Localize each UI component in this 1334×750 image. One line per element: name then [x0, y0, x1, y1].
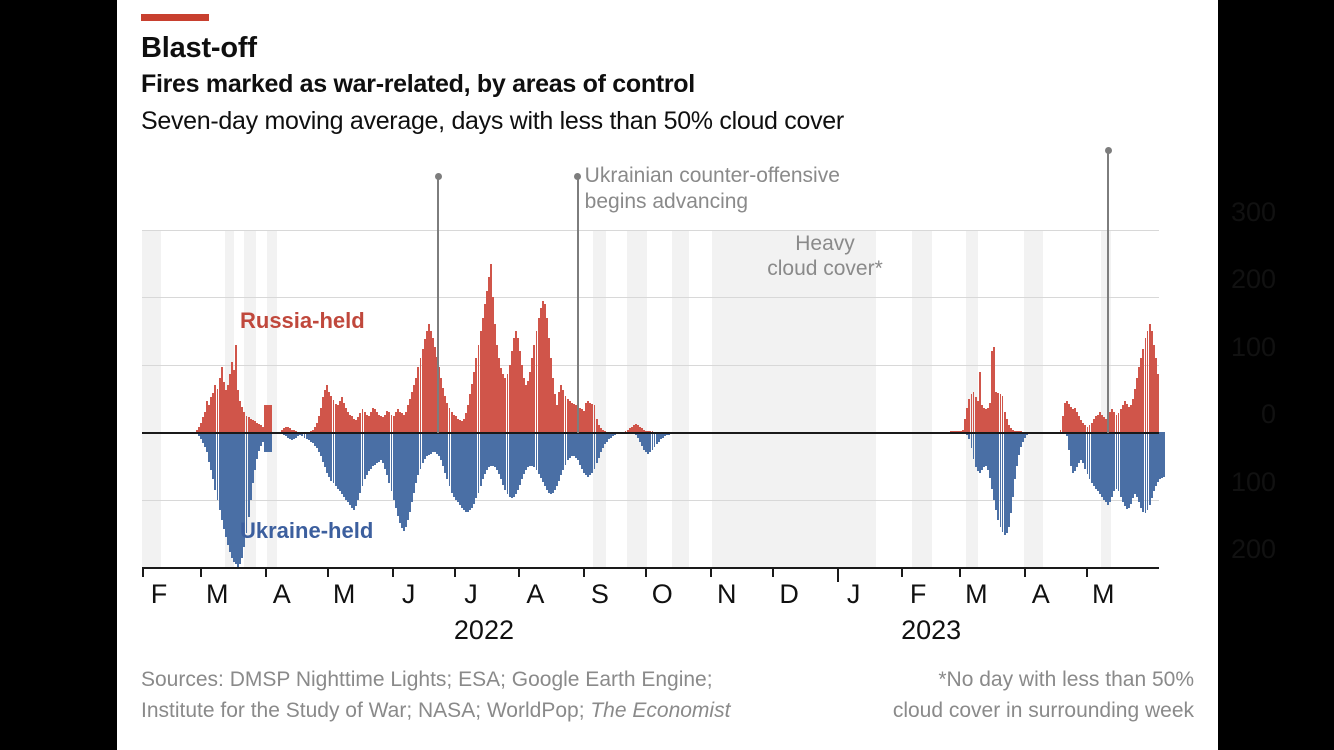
- event-marker-dot: [574, 173, 581, 180]
- x-axis-tick: [583, 567, 585, 577]
- y-axis-tick-label: 300: [1171, 197, 1276, 228]
- y-axis-tick-label: 200: [1171, 264, 1276, 295]
- x-axis-month-label: A: [1032, 579, 1050, 610]
- x-axis-month-label: A: [273, 579, 291, 610]
- x-axis-month-label: N: [717, 579, 737, 610]
- y-axis-tick-label: 0: [1171, 399, 1276, 430]
- event-marker-dot: [1105, 147, 1112, 154]
- x-axis-tick: [645, 567, 647, 577]
- x-axis-tick: [1086, 567, 1088, 577]
- x-axis-tick: [1024, 567, 1026, 577]
- x-axis-year-label: 2022: [454, 615, 514, 646]
- x-axis-tick: [454, 567, 456, 577]
- sources-note: Sources: DMSP Nighttime Lights; ESA; Goo…: [141, 665, 730, 726]
- chart-bar: [1163, 432, 1165, 476]
- x-axis-month-label: M: [206, 579, 229, 610]
- series-label-russia: Russia-held: [240, 308, 365, 334]
- chart-bar: [270, 405, 272, 432]
- cloud-label-line1: Heavy: [750, 232, 900, 257]
- chart-card: Blast-off Fires marked as war-related, b…: [117, 0, 1218, 750]
- footnote: *No day with less than 50% cloud cover i…: [893, 665, 1194, 726]
- x-axis-year-label: 2023: [901, 615, 961, 646]
- x-axis-tick: [518, 567, 520, 577]
- cloud-label-line2: cloud cover*: [750, 257, 900, 282]
- event-annotation-text: Ukrainian counter-offensivebegins advanc…: [585, 163, 840, 215]
- x-axis-tick: [327, 567, 329, 577]
- screenshot-stage: Blast-off Fires marked as war-related, b…: [0, 0, 1334, 750]
- sources-line-2: Institute for the Study of War; NASA; Wo…: [141, 696, 730, 727]
- y-axis-tick-label: 100: [1171, 467, 1276, 498]
- annotation-line-2: begins advancing: [585, 189, 840, 215]
- x-axis-tick: [392, 567, 394, 577]
- sources-line-2-text: Institute for the Study of War; NASA; Wo…: [141, 699, 590, 722]
- x-axis-tick: [959, 567, 961, 577]
- event-marker-line: [1107, 152, 1109, 433]
- y-axis-tick-label: 200: [1171, 534, 1276, 565]
- footnote-line-1: *No day with less than 50%: [893, 665, 1194, 696]
- x-axis-month-label: J: [847, 579, 861, 610]
- y-axis-tick-label: 100: [1171, 332, 1276, 363]
- plot-area: 3002001000100200 Russia-held Ukraine-hel…: [142, 230, 1159, 567]
- x-axis-month-label: F: [910, 579, 927, 610]
- footnote-line-2: cloud cover in surrounding week: [893, 696, 1194, 727]
- sources-line-1: Sources: DMSP Nighttime Lights; ESA; Goo…: [141, 665, 730, 696]
- publisher-name: The Economist: [590, 699, 730, 722]
- x-axis-tick: [200, 567, 202, 577]
- chart-bar: [270, 432, 272, 452]
- x-axis-tick: [710, 567, 712, 577]
- x-axis-line: [142, 567, 1159, 569]
- x-axis-tick: [142, 567, 144, 577]
- event-marker-line: [437, 178, 439, 433]
- x-axis-tick: [265, 567, 267, 577]
- x-axis-month-label: S: [591, 579, 609, 610]
- bar-series-layer: [142, 230, 1159, 567]
- event-marker-line: [577, 178, 579, 433]
- x-axis-month-label: M: [965, 579, 988, 610]
- x-axis-month-label: D: [779, 579, 799, 610]
- x-axis-tick: [901, 567, 903, 577]
- chart-subsubtitle: Seven-day moving average, days with less…: [141, 107, 844, 136]
- heavy-cloud-cover-label: Heavy cloud cover*: [750, 232, 900, 282]
- x-axis-tick: [837, 567, 839, 582]
- x-axis-month-label: J: [464, 579, 478, 610]
- x-axis-month-label: J: [402, 579, 416, 610]
- chart-subtitle: Fires marked as war-related, by areas of…: [141, 70, 695, 99]
- brand-rule: [141, 14, 209, 21]
- event-marker-dot: [435, 173, 442, 180]
- x-axis-month-label: M: [1092, 579, 1115, 610]
- x-axis-month-label: F: [151, 579, 168, 610]
- x-axis-month-label: A: [526, 579, 544, 610]
- zero-line: [142, 432, 1159, 434]
- x-axis-tick: [772, 567, 774, 577]
- chart-bar: [1157, 374, 1159, 432]
- series-label-ukraine: Ukraine-held: [240, 518, 373, 544]
- x-axis-month-label: M: [333, 579, 356, 610]
- annotation-line-1: Ukrainian counter-offensive: [585, 163, 840, 189]
- page-title: Blast-off: [141, 32, 257, 65]
- x-axis-month-label: O: [652, 579, 673, 610]
